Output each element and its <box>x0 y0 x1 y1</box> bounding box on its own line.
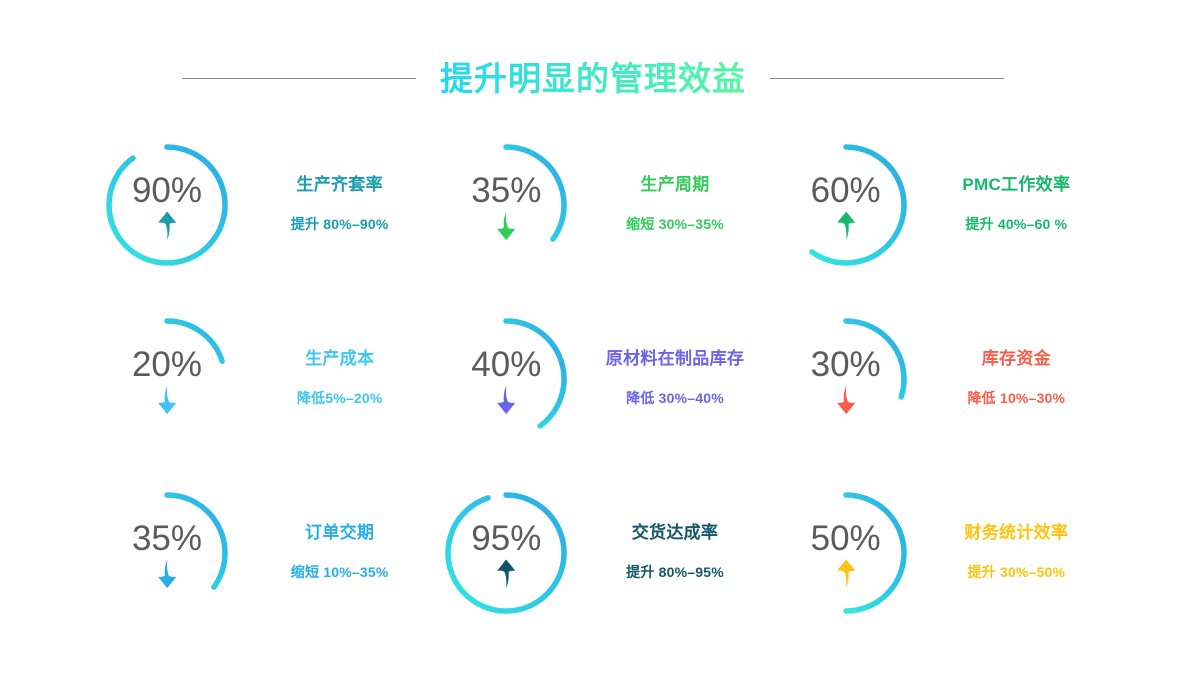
gauge-value: 35% <box>132 521 202 556</box>
kpi-text-block: PMC工作效率提升 40%–60 % <box>925 176 1106 234</box>
kpi-detail: 降低 30%–40% <box>626 391 724 406</box>
donut-gauge: 60% <box>771 130 921 280</box>
donut-gauge: 95% <box>431 478 581 628</box>
kpi-title: 库存资金 <box>982 350 1051 369</box>
kpi-detail: 缩短 30%–35% <box>626 217 724 232</box>
kpi-title: 交货达成率 <box>632 524 719 543</box>
kpi-text-block: 财务统计效率提升 30%–50% <box>925 524 1106 582</box>
kpi-text-block: 生产周期缩短 30%–35% <box>583 176 764 234</box>
kpi-card: 35%订单交期缩短 10%–35% <box>92 466 423 640</box>
arrow-up-icon <box>835 211 857 241</box>
donut-gauge: 35% <box>431 130 581 280</box>
arrow-down-icon <box>835 385 857 415</box>
gauge-value: 35% <box>471 173 541 208</box>
donut-gauge: 90% <box>92 130 242 280</box>
page-title: 提升明显的管理效益 <box>440 62 746 95</box>
page-header: 提升明显的管理效益 <box>0 54 1186 102</box>
kpi-title: 生产成本 <box>305 350 374 369</box>
kpi-text-block: 订单交期缩短 10%–35% <box>248 524 429 582</box>
kpi-card: 50%财务统计效率提升 30%–50% <box>771 466 1102 640</box>
kpi-detail: 提升 80%–95% <box>626 565 724 580</box>
donut-gauge: 30% <box>771 304 921 454</box>
title-rule-left <box>182 78 416 79</box>
kpi-title: 财务统计效率 <box>964 524 1068 543</box>
kpi-grid: 90%生产齐套率提升 80%–90%35%生产周期缩短 30%–35%60%PM… <box>92 118 1102 640</box>
gauge-value: 20% <box>132 347 202 382</box>
title-rule-right <box>770 78 1004 79</box>
kpi-card: 90%生产齐套率提升 80%–90% <box>92 118 423 292</box>
kpi-text-block: 生产成本降低5%–20% <box>248 350 429 408</box>
gauge-value: 60% <box>811 173 881 208</box>
kpi-title: 生产周期 <box>640 176 709 195</box>
gauge-value: 40% <box>471 347 541 382</box>
kpi-title: 原材料在制品库存 <box>606 350 744 369</box>
gauge-value: 90% <box>132 173 202 208</box>
kpi-card: 20%生产成本降低5%–20% <box>92 292 423 466</box>
kpi-text-block: 交货达成率提升 80%–95% <box>583 524 764 582</box>
arrow-up-icon <box>156 211 178 241</box>
kpi-card: 30%库存资金降低 10%–30% <box>771 292 1102 466</box>
donut-gauge: 35% <box>92 478 242 628</box>
kpi-detail: 降低 10%–30% <box>967 391 1065 406</box>
gauge-value: 50% <box>811 521 881 556</box>
arrow-down-icon <box>156 385 178 415</box>
arrow-down-icon <box>156 559 178 589</box>
donut-gauge: 20% <box>92 304 242 454</box>
kpi-detail: 提升 40%–60 % <box>965 217 1067 232</box>
kpi-title: PMC工作效率 <box>962 176 1070 195</box>
donut-gauge: 40% <box>431 304 581 454</box>
arrow-down-icon <box>495 385 517 415</box>
kpi-title: 订单交期 <box>305 524 374 543</box>
arrow-down-icon <box>495 211 517 241</box>
kpi-text-block: 原材料在制品库存降低 30%–40% <box>583 350 764 408</box>
kpi-card: 35%生产周期缩短 30%–35% <box>431 118 762 292</box>
arrow-up-icon <box>835 559 857 589</box>
kpi-detail: 缩短 10%–35% <box>291 565 389 580</box>
donut-gauge: 50% <box>771 478 921 628</box>
kpi-text-block: 库存资金降低 10%–30% <box>925 350 1106 408</box>
gauge-value: 95% <box>471 521 541 556</box>
kpi-detail: 降低5%–20% <box>297 391 383 406</box>
kpi-card: 95%交货达成率提升 80%–95% <box>431 466 762 640</box>
arrow-up-icon <box>495 559 517 589</box>
kpi-title: 生产齐套率 <box>296 176 383 195</box>
kpi-text-block: 生产齐套率提升 80%–90% <box>248 176 429 234</box>
kpi-card: 40%原材料在制品库存降低 30%–40% <box>431 292 762 466</box>
gauge-value: 30% <box>811 347 881 382</box>
kpi-detail: 提升 30%–50% <box>967 565 1065 580</box>
kpi-detail: 提升 80%–90% <box>291 217 389 232</box>
kpi-card: 60%PMC工作效率提升 40%–60 % <box>771 118 1102 292</box>
